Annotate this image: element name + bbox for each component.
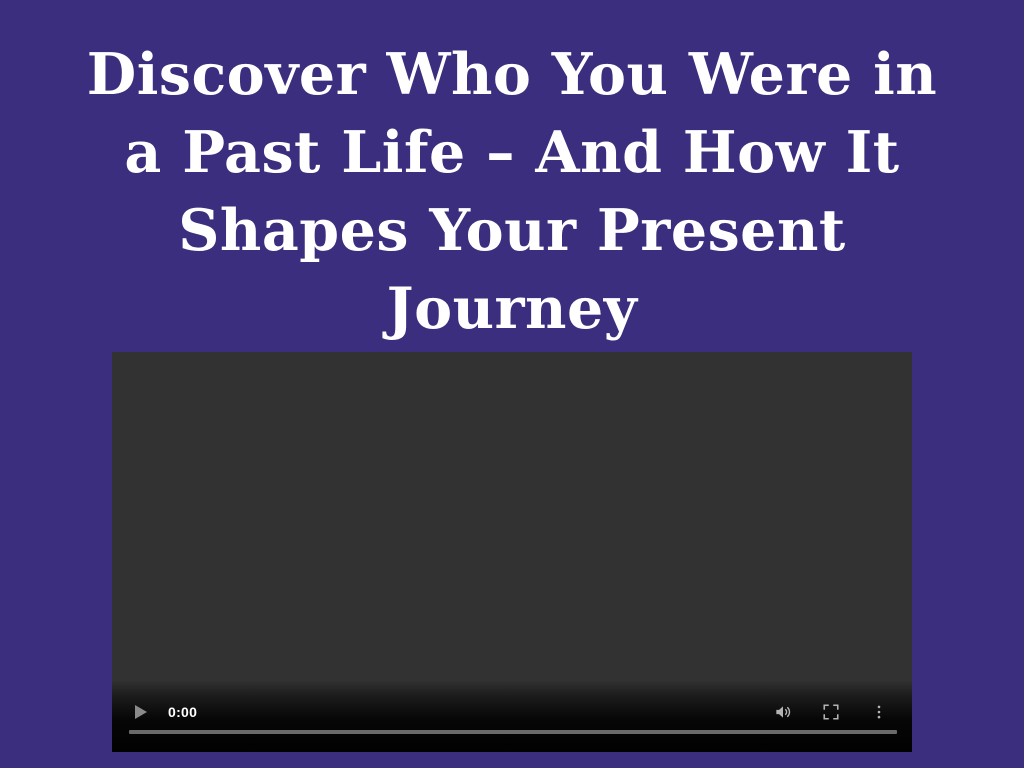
- play-triangle-icon: [135, 705, 147, 719]
- overflow-menu-button[interactable]: [862, 698, 896, 726]
- current-time-display: 0:00: [168, 705, 197, 719]
- volume-speaker-icon: [773, 702, 793, 722]
- fullscreen-button[interactable]: [814, 698, 848, 726]
- page-title: Discover Who You Were in a Past Life – A…: [60, 36, 964, 348]
- seek-slider[interactable]: [129, 730, 897, 734]
- video-player[interactable]: 0:00: [112, 352, 912, 752]
- slide-canvas: Discover Who You Were in a Past Life – A…: [0, 0, 1024, 768]
- video-control-bar: 0:00: [112, 680, 912, 752]
- more-vertical-dots-icon: [870, 703, 888, 721]
- right-controls-group: [752, 698, 896, 726]
- volume-button[interactable]: [766, 698, 800, 726]
- fullscreen-corners-icon: [822, 703, 840, 721]
- play-button[interactable]: [126, 698, 156, 726]
